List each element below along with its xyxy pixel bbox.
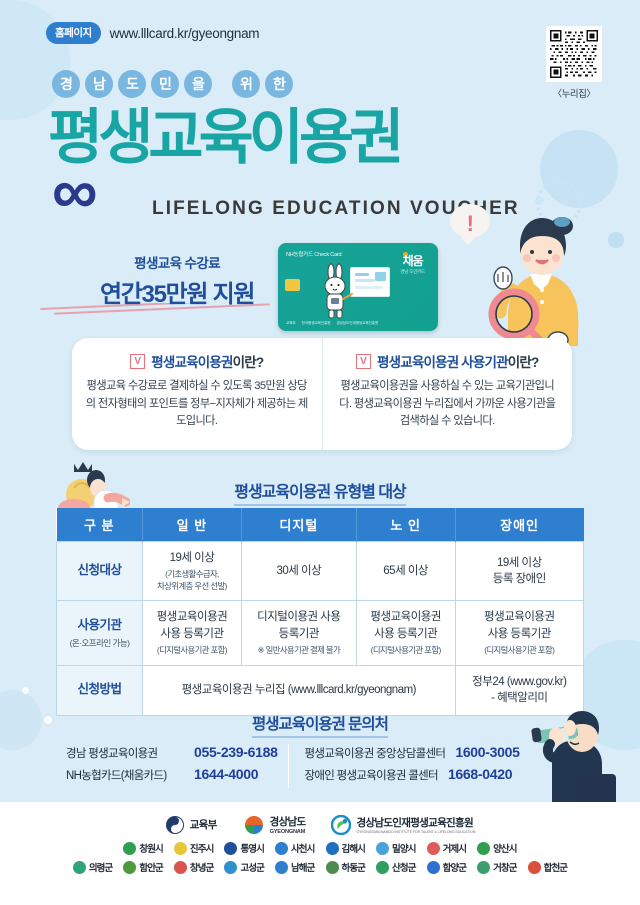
table-row: 신청방법 평생교육이용권 누리집 (www.lllcard.kr/gyeongn… (57, 665, 584, 715)
city-mark-icon (477, 861, 490, 874)
table-header-row: 구 분 일 반 디지털 노 인 장애인 (57, 508, 584, 542)
city-mark-icon (123, 861, 136, 874)
city-mark-icon (123, 842, 136, 855)
card-mark: 경상남도인재평생교육진흥원 (336, 321, 378, 326)
card-logo-sub: 경남 도민카드 (400, 269, 425, 275)
city-logo: 합천군 (528, 860, 568, 874)
city-mark-icon (224, 861, 237, 874)
table-cell: 30세 이상 (241, 542, 356, 601)
city-mark-icon (528, 861, 541, 874)
kicker-char: 도 (118, 70, 146, 98)
row-label-applicant: 신청대상 (57, 542, 143, 601)
rabbit-mascot-icon (320, 263, 354, 321)
org-name: 경상남도 GYEONGNAM (270, 814, 306, 835)
check-v-icon: V (130, 354, 145, 369)
infinity-icon: ∞ (52, 172, 98, 212)
org-logo-moe: 교육부 (165, 815, 217, 835)
gyeongnam-logo-icon (243, 815, 265, 835)
info-card-title: 평생교육이용권 사용기관이란? (377, 351, 538, 371)
contact-number[interactable]: 1600-3005 (455, 744, 519, 760)
card-footer-marks: 교육부 한국평생교육진흥원 경상남도인재평생교육진흥원 (286, 321, 430, 326)
city-mark-icon (224, 842, 237, 855)
contact-label: 경남 평생교육이용권 (66, 745, 184, 761)
city-mark-icon (174, 842, 187, 855)
card-mark: 한국평생교육진흥원 (302, 321, 331, 326)
page-title: 평생교육이용권 (48, 108, 399, 168)
kicker-char: 을 (184, 70, 212, 98)
table-col-header: 노 인 (356, 508, 455, 542)
table-section-title: 평생교육이용권 유형별 대상 (0, 478, 640, 502)
contact-number[interactable]: 1644-4000 (194, 766, 258, 782)
contact-number[interactable]: 1668-0420 (448, 766, 512, 782)
contact-row: NH농협카드(채움카드) 1644-4000 (66, 766, 288, 783)
table-cell: 평생교육이용권 누리집 (www.lllcard.kr/gyeongnam) (143, 665, 456, 715)
voucher-type-table: 구 분 일 반 디지털 노 인 장애인 신청대상 19세 이상 (기초생활수급자… (56, 508, 584, 716)
city-logo: 함양군 (427, 860, 467, 874)
city-logo: 고성군 (224, 860, 264, 874)
city-mark-icon (427, 842, 440, 855)
table-row: 신청대상 19세 이상 (기초생활수급자,차상위계층 우선 선발) 30세 이상… (57, 542, 584, 601)
city-mark-icon (477, 842, 490, 855)
support-amount-block: 평생교육 수강료 연간35만원 지원 (100, 252, 254, 309)
table-col-header: 디지털 (241, 508, 356, 542)
qr-code-icon[interactable] (546, 26, 602, 82)
kicker-char: 한 (265, 70, 293, 98)
org-logo-institute: 경상남도인재평생교육진흥원 GYEONGSANGNAMDO INSTITUTE … (331, 815, 475, 835)
city-logo: 진주시 (174, 841, 214, 855)
info-card-institution: V 평생교육이용권 사용기관이란? 평생교육이용권을 사용하실 수 있는 교육기… (322, 338, 573, 450)
city-logo: 거창군 (477, 860, 517, 874)
card-logo-text: 채움 (400, 252, 425, 269)
city-logo: 창녕군 (174, 860, 214, 874)
voucher-card-image: NH농협카드 Check Card 채움 경남 도민카드 교육부 (278, 243, 438, 331)
city-row-1: 창원시 진주시 통영시 사천시 김해시 밀양시 거제시 양산시 (16, 841, 624, 855)
kicker-char: 경 (52, 70, 80, 98)
city-logo: 김해시 (326, 841, 366, 855)
row-label-institution: 사용기관 (온·오프라인 가능) (57, 601, 143, 665)
row-label-method: 신청방법 (57, 665, 143, 715)
contact-list: 경남 평생교육이용권 055-239-6188 NH농협카드(채움카드) 164… (56, 744, 526, 788)
hero-kicker: 경 남 도 민 을 위 한 (52, 70, 293, 98)
card-screen-icon (350, 267, 390, 297)
kicker-char: 위 (232, 70, 260, 98)
contact-row: 평생교육이용권 중앙상담콜센터 1600-3005 (305, 744, 527, 761)
table-cell: 평생교육이용권사용 등록기관 (디지털사용기관 포함) (356, 601, 455, 665)
info-card-body: 평생교육 수강료로 결제하실 수 있도록 35만원 상당의 전자형태의 포인트를… (84, 378, 310, 431)
table-cell: 19세 이상 (기초생활수급자,차상위계층 우선 선발) (143, 542, 242, 601)
contact-label: 장애인 평생교육이용권 콜센터 (305, 767, 438, 783)
city-logo: 함안군 (123, 860, 163, 874)
bg-dot (22, 687, 29, 694)
org-name: 교육부 (190, 817, 217, 832)
info-card-title: 평생교육이용권이란? (151, 351, 263, 371)
contact-number[interactable]: 055-239-6188 (194, 744, 278, 760)
city-logo: 하동군 (326, 860, 366, 874)
city-logo: 의령군 (73, 860, 113, 874)
qr-caption: 〈누리집〉 (546, 86, 602, 100)
kicker-char: 민 (151, 70, 179, 98)
table-col-header: 일 반 (143, 508, 242, 542)
taegeuk-icon (165, 815, 185, 835)
city-row-2: 의령군 함안군 창녕군 고성군 남해군 하동군 산청군 함양군 거창군 합천군 (16, 860, 624, 874)
table-cell: 65세 이상 (356, 542, 455, 601)
table-cell: 디지털이용권 사용등록기관 ※ 일반사용기관 결제 불가 (241, 601, 356, 665)
bg-blob (0, 0, 70, 120)
contact-row: 장애인 평생교육이용권 콜센터 1668-0420 (305, 766, 527, 783)
city-mark-icon (275, 842, 288, 855)
organization-logos: 교육부 경상남도 GYEONGNAM (0, 802, 640, 835)
city-logo: 산청군 (376, 860, 416, 874)
org-logo-gyeongnam: 경상남도 GYEONGNAM (243, 814, 306, 835)
city-mark-icon (326, 861, 339, 874)
table-cell: 19세 이상등록 장애인 (455, 542, 583, 601)
footer: 교육부 경상남도 GYEONGNAM (0, 802, 640, 905)
qr-block: 〈누리집〉 (546, 26, 602, 100)
city-logo: 거제시 (427, 841, 467, 855)
city-mark-icon (275, 861, 288, 874)
table-col-header: 장애인 (455, 508, 583, 542)
card-brand-label: NH농협카드 Check Card (286, 250, 341, 258)
homepage-url[interactable]: www.lllcard.kr/gyeongnam (110, 26, 260, 41)
contact-column-right: 평생교육이용권 중앙상담콜센터 1600-3005 장애인 평생교육이용권 콜센… (288, 744, 527, 788)
contact-row: 경남 평생교육이용권 055-239-6188 (66, 744, 288, 761)
info-card-header: V 평생교육이용권이란? (84, 351, 310, 371)
info-card-voucher: V 평생교육이용권이란? 평생교육 수강료로 결제하실 수 있도록 35만원 상… (72, 338, 322, 450)
org-name: 경상남도인재평생교육진흥원 GYEONGSANGNAMDO INSTITUTE … (356, 815, 475, 834)
city-mark-icon (376, 842, 389, 855)
check-v-icon: V (356, 354, 371, 369)
city-logo: 남해군 (275, 860, 315, 874)
contact-column-left: 경남 평생교육이용권 055-239-6188 NH농협카드(채움카드) 164… (56, 744, 288, 788)
card-logo: 채움 경남 도민카드 (400, 252, 425, 275)
bg-blob (608, 232, 624, 248)
table-row: 사용기관 (온·오프라인 가능) 평생교육이용권사용 등록기관 (디지털사용기관… (57, 601, 584, 665)
woman-magnifier-illustration (470, 198, 600, 346)
homepage-badge: 홈페이지 (46, 22, 101, 44)
city-logos: 창원시 진주시 통영시 사천시 김해시 밀양시 거제시 양산시 의령군 함안군 … (0, 835, 640, 874)
city-logo: 통영시 (224, 841, 264, 855)
support-amount-value: 연간35만원 지원 (100, 274, 254, 309)
contact-label: 평생교육이용권 중앙상담콜센터 (305, 745, 446, 761)
city-mark-icon (376, 861, 389, 874)
info-card-header: V 평생교육이용권 사용기관이란? (335, 351, 561, 371)
city-logo: 창원시 (123, 841, 163, 855)
info-card-group: V 평생교육이용권이란? 평생교육 수강료로 결제하실 수 있도록 35만원 상… (72, 338, 572, 450)
city-mark-icon (73, 861, 86, 874)
city-mark-icon (427, 861, 440, 874)
city-logo: 양산시 (477, 841, 517, 855)
city-logo: 사천시 (275, 841, 315, 855)
contact-label: NH농협카드(채움카드) (66, 767, 184, 783)
city-mark-icon (174, 861, 187, 874)
city-logo: 밀양시 (376, 841, 416, 855)
card-chip-icon (285, 279, 300, 291)
city-mark-icon (326, 842, 339, 855)
poster-root: 홈페이지 www.lllcard.kr/gyeongnam (0, 0, 640, 905)
decor-tab (576, 774, 616, 802)
info-card-body: 평생교육이용권을 사용하실 수 있는 교육기관입니다. 평생교육이용권 누리집에… (335, 378, 561, 431)
table-cell: 평생교육이용권사용 등록기관 (디지털사용기관 포함) (143, 601, 242, 665)
table-col-header: 구 분 (57, 508, 143, 542)
kicker-char: 남 (85, 70, 113, 98)
institute-logo-icon (331, 815, 351, 835)
homepage-line: 홈페이지 www.lllcard.kr/gyeongnam (46, 22, 259, 44)
table-cell: 평생교육이용권사용 등록기관 (디지털사용기관 포함) (455, 601, 583, 665)
support-amount-label: 평생교육 수강료 (100, 252, 254, 272)
card-mark: 교육부 (286, 321, 296, 326)
